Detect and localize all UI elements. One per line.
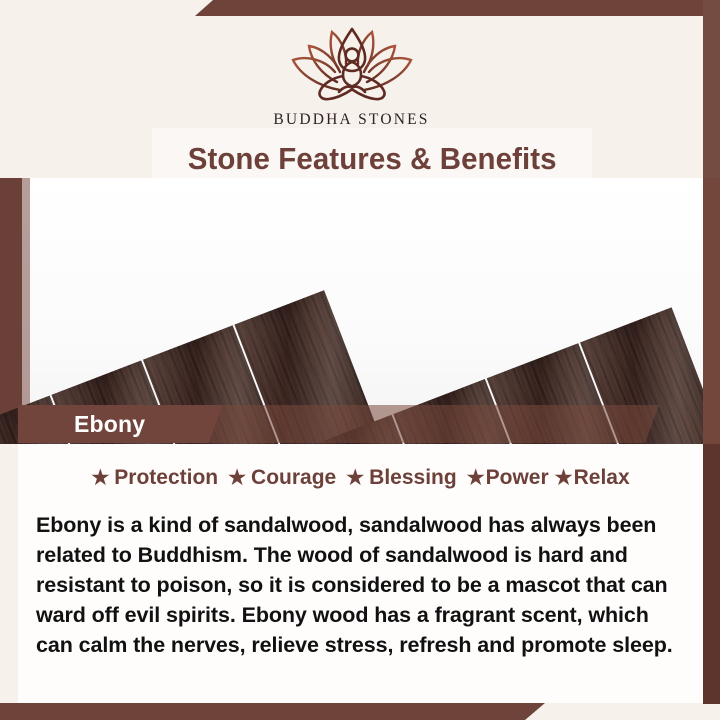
brand-logo-block: BUDDHA STONES [0,16,703,136]
photo-right-column [703,178,720,444]
benefit-item: ★ Relax [555,466,630,490]
bottom-decorative-bar [0,703,720,720]
benefit-item: ★ Power [467,466,549,490]
top-decorative-bar [0,0,720,16]
benefit-label: Relax [574,466,630,490]
lotus-meditation-icon [277,24,427,109]
header-section: BUDDHA STONES Stone Features & Benefits [0,16,703,178]
star-icon: ★ [467,468,485,488]
page-title: Stone Features & Benefits [188,141,557,177]
benefit-label: Power [486,466,549,490]
benefit-item: ★ Courage [228,466,336,490]
benefit-item: ★ Protection [91,466,218,490]
bottom-bar-shape [0,703,545,720]
star-icon: ★ [555,468,573,488]
benefit-label: Blessing [369,466,457,490]
benefits-list: ★ Protection ★ Courage ★ Blessing ★ Powe… [18,466,703,490]
top-bar-shape [195,0,720,16]
content-card: ★ Protection ★ Courage ★ Blessing ★ Powe… [18,444,703,703]
stone-name-banner-ghost [209,405,659,443]
star-icon: ★ [346,468,364,488]
infographic-page: BUDDHA STONES Stone Features & Benefits [0,0,720,720]
benefit-label: Courage [251,466,336,490]
brand-name: BUDDHA STONES [273,111,429,129]
star-icon: ★ [91,468,109,488]
stone-name-banner: Ebony [18,405,668,443]
benefit-item: ★ Blessing [346,466,456,490]
star-icon: ★ [228,468,246,488]
description-text: Ebony is a kind of sandalwood, sandalwoo… [36,510,686,660]
benefit-label: Protection [114,466,218,490]
top-bar-right-edge [703,0,720,16]
stone-name-label: Ebony [74,405,145,443]
